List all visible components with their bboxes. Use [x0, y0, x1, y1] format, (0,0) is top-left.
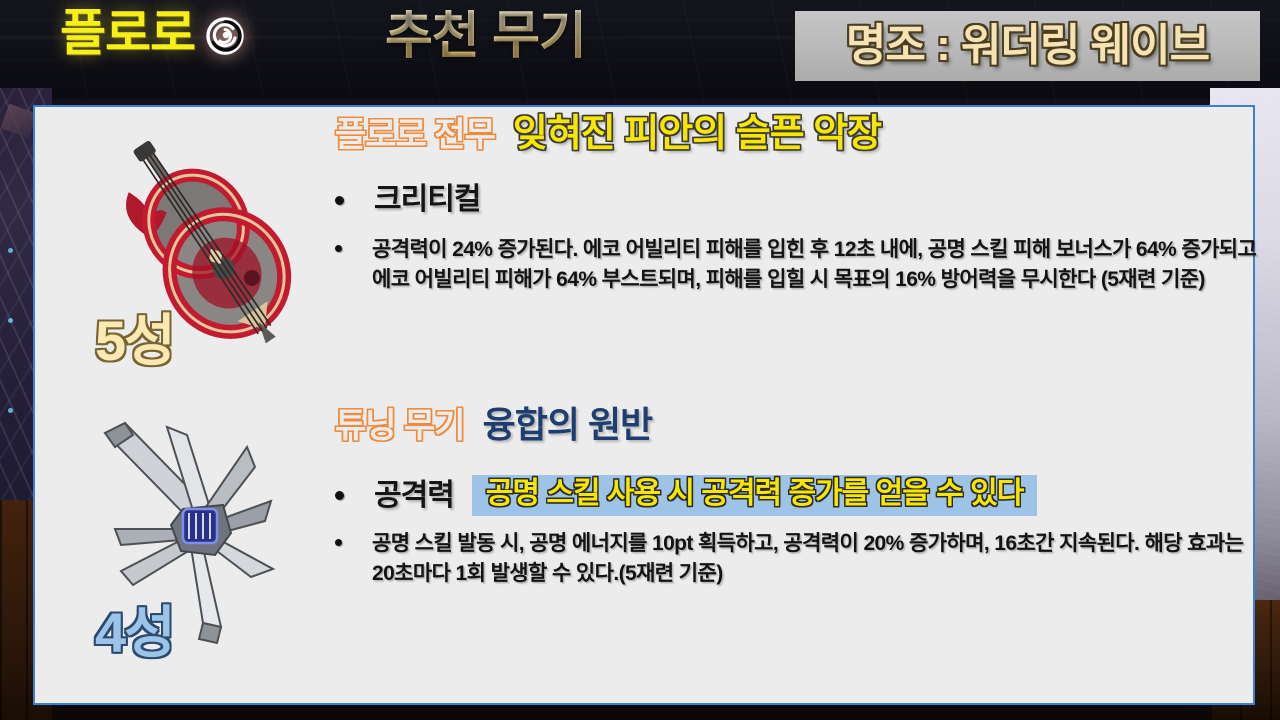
red-violin-weapon-image: 5성 [75, 113, 330, 363]
header-bar: 플로로 추천 무기 명조 : 워더링 웨이브 [0, 0, 1280, 100]
weapon-entry: 4성 튜닝 무기 융합의 원반 공격력 공명 스킬 사용 시 공격력 증가를 얻… [35, 399, 1253, 699]
bullet-icon [335, 539, 342, 546]
silver-star-weapon-image: 4성 [75, 405, 330, 655]
game-title-badge: 명조 : 워더링 웨이브 [795, 11, 1260, 81]
weapon-description-row: 공명 스킬 발동 시, 공명 에너지를 10pt 획득하고, 공격력이 20% … [335, 529, 1260, 589]
weapon-heading: 플로로 전무 잊혀진 피안의 슬픈 악장 [335, 115, 881, 153]
weapon-description: 공격력이 24% 증가된다. 에코 어빌리티 피해를 입힌 후 12초 내에, … [372, 235, 1260, 295]
rarity-label: 5성 [95, 313, 174, 369]
game-title-label: 명조 : 워더링 웨이브 [846, 24, 1209, 68]
brand-block: 플로로 [60, 8, 247, 58]
weapon-heading: 튜닝 무기 융합의 원반 [335, 407, 652, 443]
weapon-name: 잊혀진 피안의 슬픈 악장 [513, 115, 881, 153]
weapon-stat-label: 크리티컬 [374, 185, 480, 215]
rarity-label: 4성 [95, 605, 174, 661]
weapon-description: 공명 스킬 발동 시, 공명 에너지를 10pt 획득하고, 공격력이 20% … [372, 529, 1260, 589]
weapon-stat-row: 크리티컬 [335, 185, 480, 215]
weapon-category-tag: 플로로 전무 [335, 118, 495, 152]
weapon-stat-label: 공격력 [374, 481, 454, 511]
bullet-icon [335, 491, 344, 500]
weapon-description-row: 공격력이 24% 증가된다. 에코 어빌리티 피해를 입힌 후 12초 내에, … [335, 235, 1260, 295]
weapon-name: 융합의 원반 [483, 407, 653, 443]
bullet-icon [335, 245, 342, 252]
weapon-stat-highlight: 공명 스킬 사용 시 공격력 증가를 얻을 수 있다 [472, 475, 1037, 516]
bullet-icon [335, 196, 344, 205]
content-panel: 5성 플로로 전무 잊혀진 피안의 슬픈 악장 크리티컬 공격력이 24% 증가… [33, 105, 1255, 705]
brand-name: 플로로 [60, 8, 195, 58]
page-title: 추천 무기 [385, 10, 586, 62]
weapon-stat-row: 공격력 공명 스킬 사용 시 공격력 증가를 얻을 수 있다 [335, 475, 1037, 516]
weapon-category-tag: 튜닝 무기 [335, 409, 465, 443]
spiral-vortex-icon [203, 14, 247, 58]
weapon-entry: 5성 플로로 전무 잊혀진 피안의 슬픈 악장 크리티컬 공격력이 24% 증가… [35, 107, 1253, 407]
